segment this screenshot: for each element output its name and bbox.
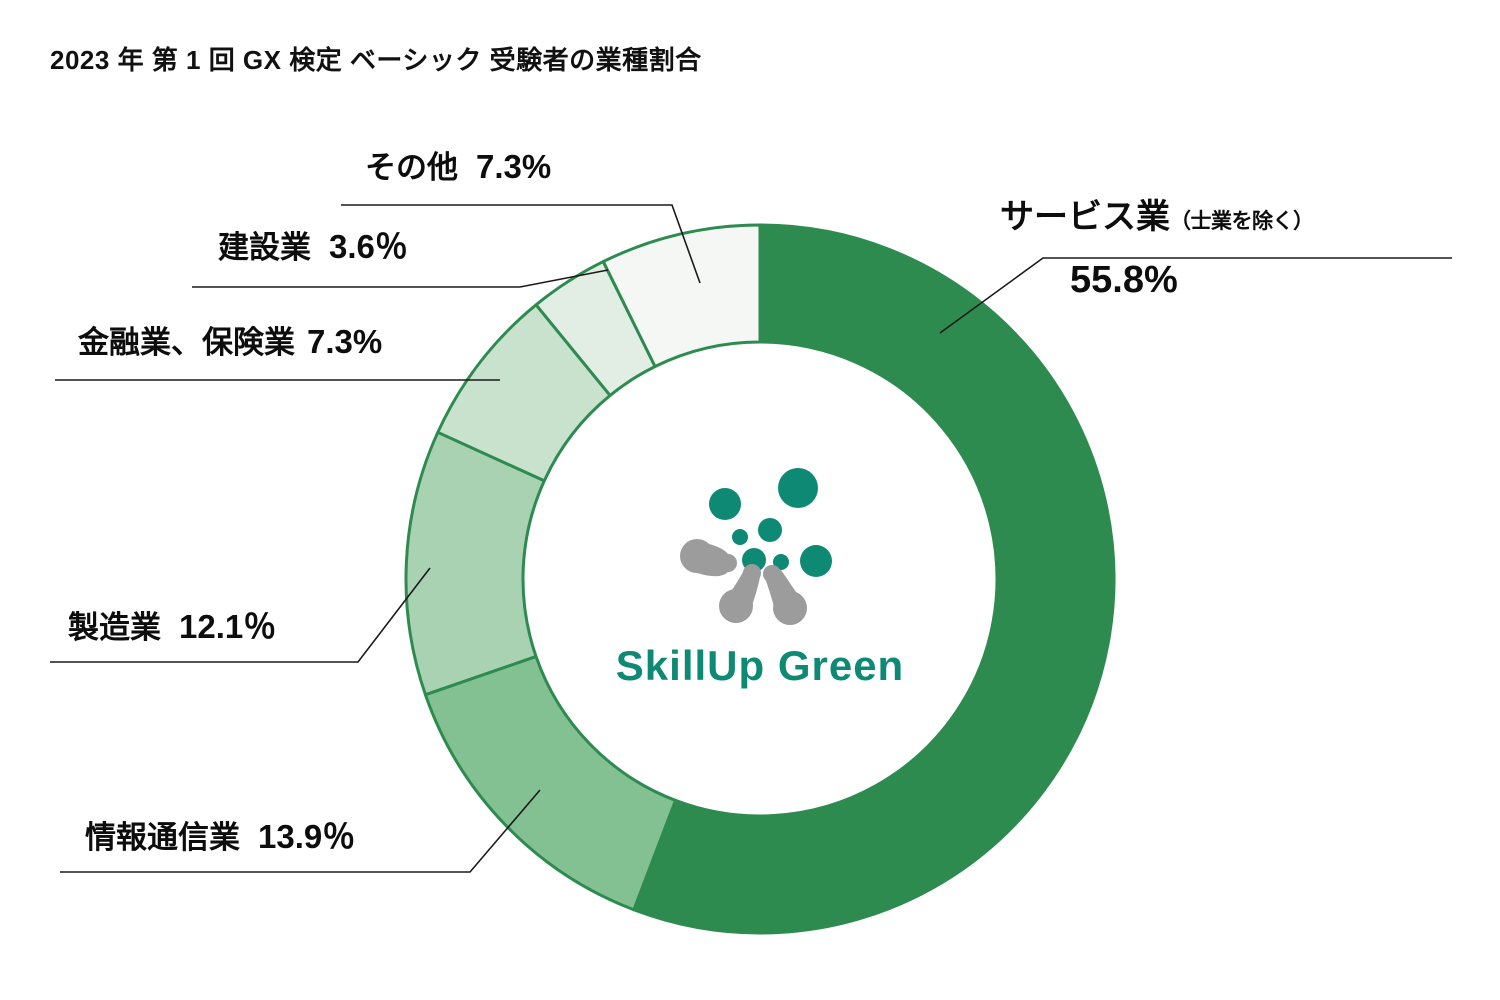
callout-service-note: （士業を除く） <box>1170 210 1314 233</box>
callout-construction-category: 建設業 <box>218 230 311 265</box>
callout-information-category: 情報通信業 <box>85 820 240 855</box>
callout-information: 情報通信業13.9％ <box>85 818 355 856</box>
chart-page: 2023 年 第 1 回 GX 検定 ベーシック 受験者の業種割合 <box>0 0 1500 1000</box>
callout-finance-percent: 7.3% <box>307 323 382 360</box>
callout-other: その他7.3% <box>365 148 551 186</box>
callout-other-category: その他 <box>365 150 458 185</box>
callout-other-percent: 7.3% <box>476 148 551 185</box>
callout-service-category: サービス業 <box>1000 198 1170 236</box>
callout-finance: 金融業、保険業7.3% <box>78 323 382 361</box>
callout-manufacturing-percent: 12.1％ <box>179 608 276 645</box>
skillup-green-dots-mark <box>680 468 832 625</box>
callout-manufacturing: 製造業12.1％ <box>68 608 276 646</box>
callout-service: サービス業（士業を除く） 55.8% <box>1000 198 1452 303</box>
callout-information-percent: 13.9％ <box>258 818 355 855</box>
callout-service-percent: 55.8% <box>1070 259 1178 301</box>
callout-manufacturing-category: 製造業 <box>68 610 161 645</box>
leader-line-const <box>192 270 608 287</box>
callout-finance-category: 金融業、保険業 <box>78 325 295 360</box>
callout-construction-percent: 3.6％ <box>329 228 408 265</box>
donut-segment-group <box>406 225 1114 933</box>
callout-construction: 建設業3.6％ <box>218 228 408 266</box>
